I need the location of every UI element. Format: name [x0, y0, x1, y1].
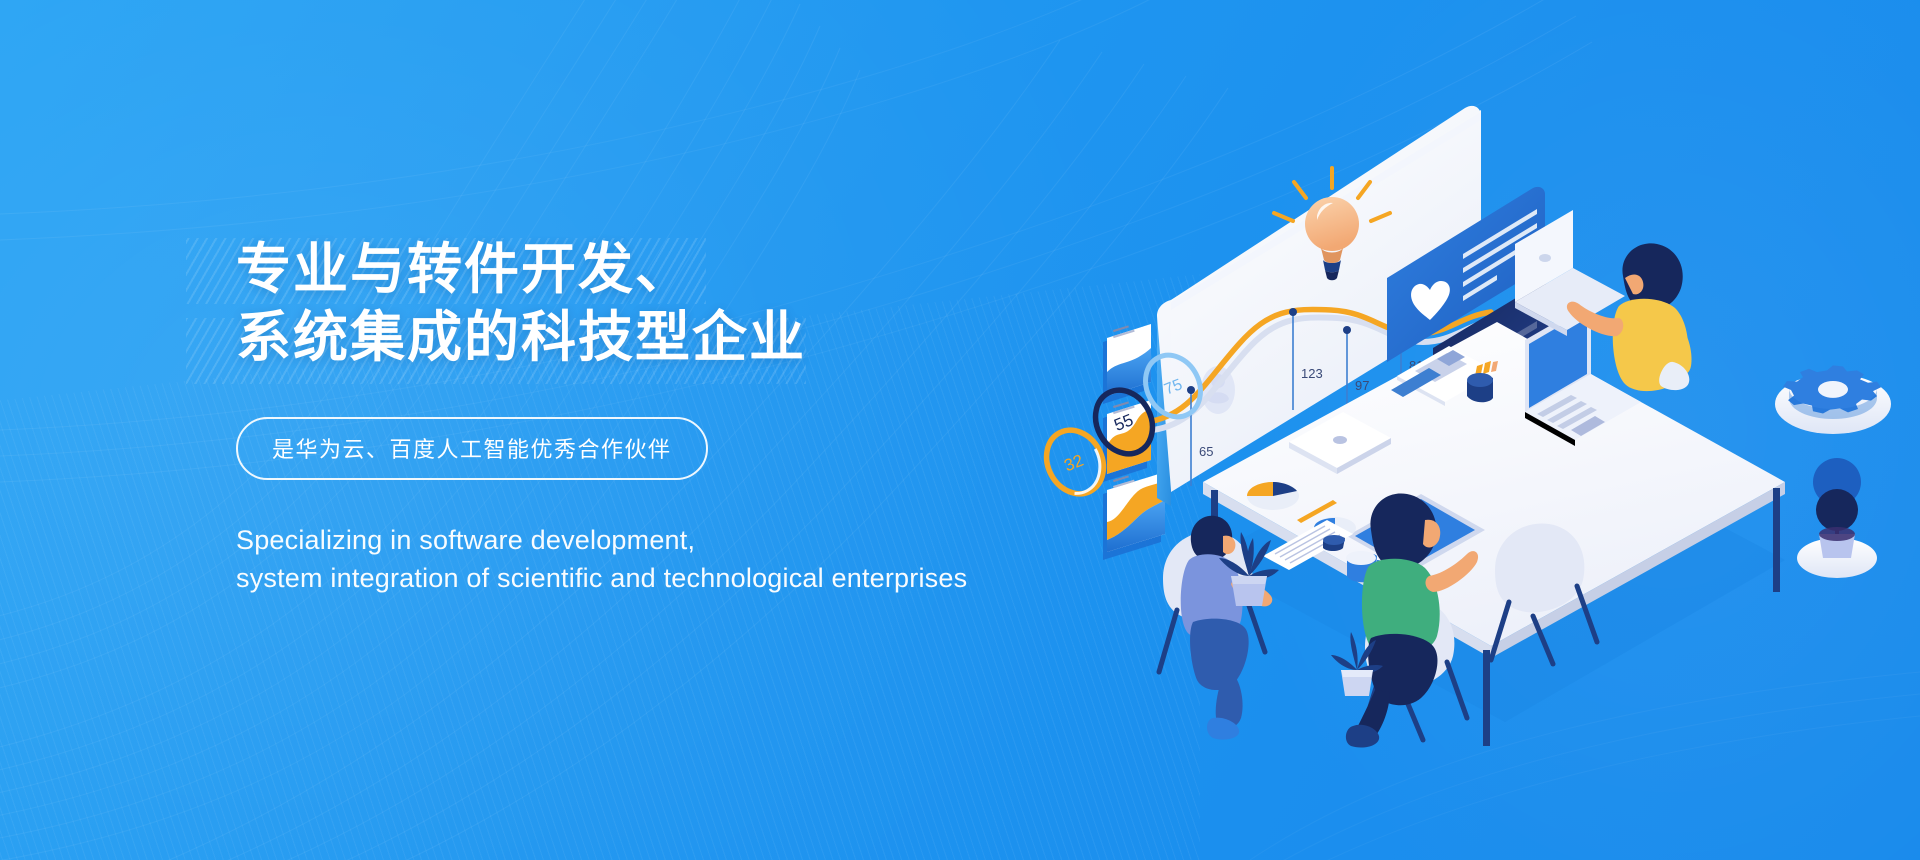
hero-illustration: 65 123 97 81: [1085, 90, 1915, 650]
topiary-icon: [1797, 458, 1877, 578]
chart-label-65: 65: [1199, 444, 1213, 459]
chart-label-123: 123: [1301, 366, 1323, 381]
hero-banner: 专业与转件开发、 系统集成的科技型企业 是华为云、百度人工智能优秀合作伙伴 Sp…: [0, 0, 1920, 860]
partner-badge: 是华为云、百度人工智能优秀合作伙伴: [236, 417, 708, 480]
subtitle-line-1: Specializing in software development,: [236, 522, 1136, 559]
chart-label-97: 97: [1355, 378, 1369, 393]
subtitle: Specializing in software development, sy…: [236, 522, 1136, 597]
page-title: 专业与转件开发、 系统集成的科技型企业: [236, 236, 1136, 371]
subtitle-line-2: system integration of scientific and tec…: [236, 560, 1136, 597]
headline-line-1: 专业与转件开发、: [236, 236, 1136, 304]
gear-icon: [1775, 365, 1891, 434]
headline-line-2: 系统集成的科技型企业: [236, 304, 1136, 372]
hero-copy: 专业与转件开发、 系统集成的科技型企业 是华为云、百度人工智能优秀合作伙伴 Sp…: [236, 236, 1136, 597]
isometric-scene: 65 123 97 81: [1085, 90, 1915, 650]
mini-chart-card-3: [1103, 472, 1165, 560]
